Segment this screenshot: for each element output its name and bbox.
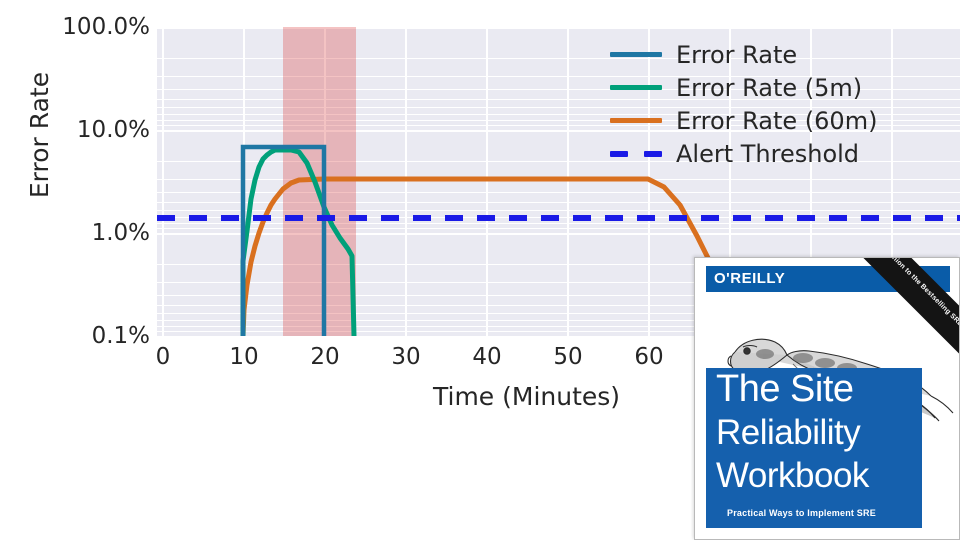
book-title-line-1: The Site — [706, 368, 922, 411]
legend-swatch-alert-threshold — [610, 144, 662, 164]
y-tick-100: 100.0% — [62, 16, 150, 39]
legend-label-error-rate-5m: Error Rate (5m) — [676, 74, 862, 102]
legend-swatch-error-rate-5m — [610, 78, 662, 98]
oreilly-logo-text: O'REILLY — [714, 270, 785, 287]
legend-label-alert-threshold: Alert Threshold — [676, 140, 859, 168]
x-tick-0: 0 — [156, 344, 171, 370]
legend-label-error-rate: Error Rate — [676, 41, 797, 69]
figure-canvas: 100.0% 10.0% 1.0% 0.1% Error Rate — [0, 0, 960, 540]
x-tick-40: 40 — [472, 344, 501, 370]
legend-item-alert-threshold[interactable]: Alert Threshold — [610, 137, 900, 170]
x-tick-20: 20 — [310, 344, 339, 370]
legend-swatch-error-rate — [610, 45, 662, 65]
legend-item-error-rate[interactable]: Error Rate — [610, 38, 900, 71]
book-subtitle: Practical Ways to Implement SRE — [727, 508, 876, 518]
legend-swatch-error-rate-60m — [610, 111, 662, 131]
book-title-block: The Site Reliability Workbook Practical … — [706, 368, 922, 528]
x-tick-10: 10 — [229, 344, 258, 370]
y-tick-0_1: 0.1% — [92, 325, 150, 348]
series-error-rate-60m — [243, 179, 729, 336]
book-title-line-2: Reliability — [706, 411, 922, 454]
legend-item-error-rate-5m[interactable]: Error Rate (5m) — [610, 71, 900, 104]
x-tick-30: 30 — [391, 344, 420, 370]
legend-label-error-rate-60m: Error Rate (60m) — [676, 107, 877, 135]
y-axis-tick-labels: 100.0% 10.0% 1.0% 0.1% — [0, 0, 150, 540]
x-tick-50: 50 — [553, 344, 582, 370]
chart-legend: Error Rate Error Rate (5m) Error Rate (6… — [610, 38, 900, 170]
y-axis-title: Error Rate — [25, 35, 55, 235]
y-tick-10: 10.0% — [77, 119, 150, 142]
legend-item-error-rate-60m[interactable]: Error Rate (60m) — [610, 104, 900, 137]
y-tick-1: 1.0% — [92, 222, 150, 245]
book-title-line-3: Workbook — [706, 454, 922, 497]
x-tick-60: 60 — [634, 344, 663, 370]
book-cover-overlay: O'REILLY — [694, 257, 960, 540]
